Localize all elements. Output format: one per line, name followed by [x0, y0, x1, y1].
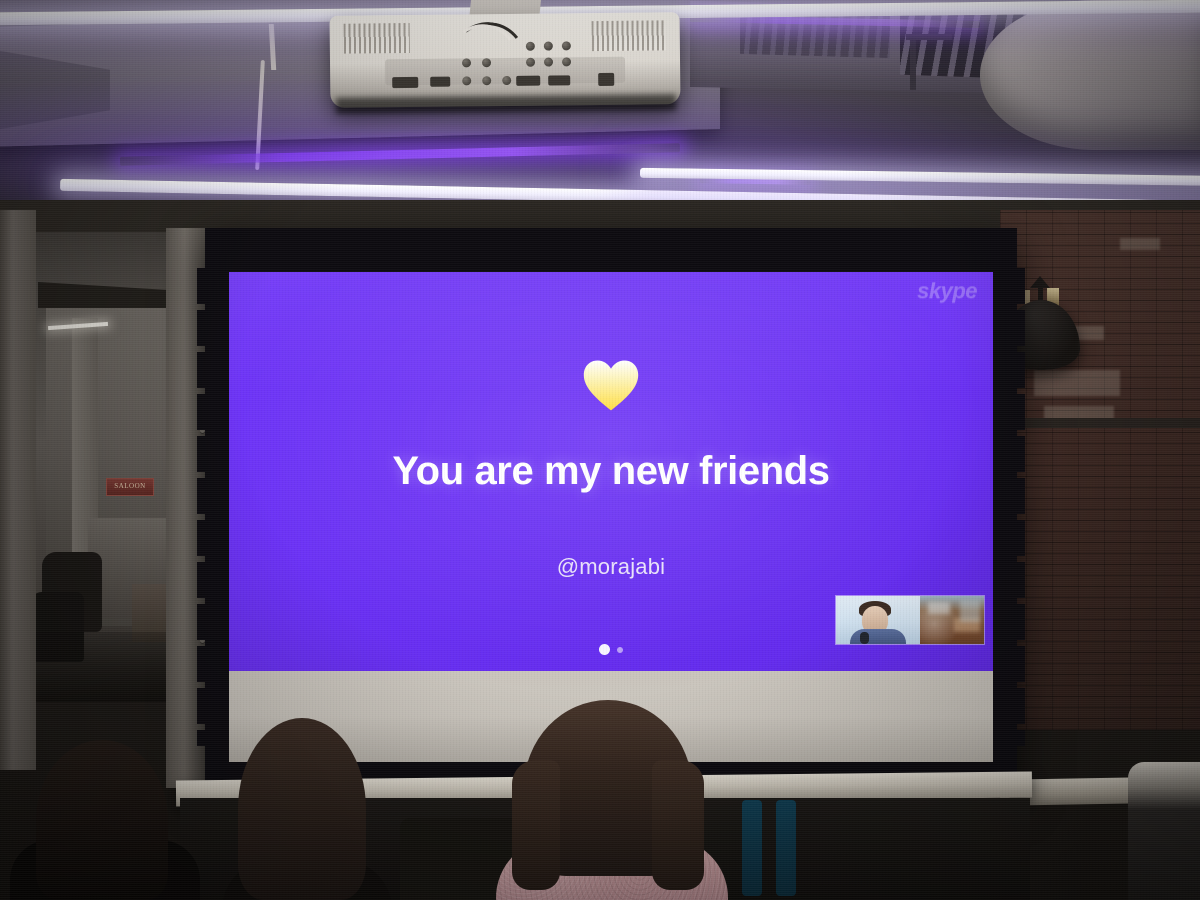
pagination-dot[interactable] [617, 647, 623, 653]
projector-vent [592, 20, 666, 51]
structural-pillar [0, 210, 36, 770]
projector-rca-jack [562, 57, 571, 66]
screen-edge-tabs-left [197, 268, 213, 746]
audience-head [36, 740, 168, 900]
projector-rca-jack [526, 58, 535, 67]
saloon-sign: SALOON [106, 478, 154, 496]
speaker-torso [850, 629, 906, 644]
audience-head [238, 718, 366, 900]
video-panel-remote-speaker[interactable] [836, 596, 920, 644]
projector-rca-jack [526, 42, 535, 51]
projection-screen-surface: You are my new friends @morajabi skype [229, 272, 993, 762]
speaker-microphone [860, 632, 869, 644]
skype-watermark: skype [917, 278, 977, 304]
video-panel-room-view[interactable] [920, 596, 984, 644]
audience-member [20, 730, 180, 900]
exposed-brick-wall [1000, 210, 1200, 730]
table-leg [776, 800, 796, 896]
ceiling-projector[interactable] [330, 12, 681, 108]
purple-led-accent [120, 143, 680, 166]
projector-lan-port [598, 73, 614, 86]
ceiling-hanger-post [910, 38, 916, 90]
room-view-highlight [928, 602, 950, 614]
projector-vga-port [392, 77, 418, 88]
brick-plaster-patch [1120, 238, 1160, 250]
slide-pagination[interactable] [229, 644, 993, 655]
skype-video-thumbnail[interactable] [835, 595, 985, 645]
wall-shelf [1010, 418, 1200, 428]
screenshot-root: SALOON [0, 0, 1200, 900]
screen-edge-tabs-right [1009, 268, 1025, 746]
slide-content: You are my new friends @morajabi skype [229, 272, 993, 671]
projector-rca-jack [544, 41, 553, 50]
projector-port [430, 77, 450, 87]
ceiling-pipe [980, 0, 1200, 150]
table-leg [742, 800, 762, 896]
projector-port [548, 75, 570, 85]
room-view-highlight [960, 600, 980, 622]
slide-handle: @morajabi [229, 554, 993, 580]
slide-title: You are my new friends [229, 450, 993, 493]
projector-rca-jack [562, 41, 571, 50]
yellow-heart-icon [229, 358, 993, 421]
projector-rca-jack [544, 57, 553, 66]
audience-hair-strand [652, 760, 704, 890]
ceiling-hanger-bracket [906, 34, 952, 40]
projector-vent [344, 23, 410, 54]
audience-hair-strand [512, 760, 560, 890]
pagination-dot-active[interactable] [599, 644, 610, 655]
brick-plaster-patch [1034, 370, 1120, 396]
audience-member [500, 700, 720, 900]
background-appliance [1128, 762, 1200, 900]
audience-member [228, 700, 378, 900]
projected-slide: You are my new friends @morajabi skype [229, 272, 993, 671]
